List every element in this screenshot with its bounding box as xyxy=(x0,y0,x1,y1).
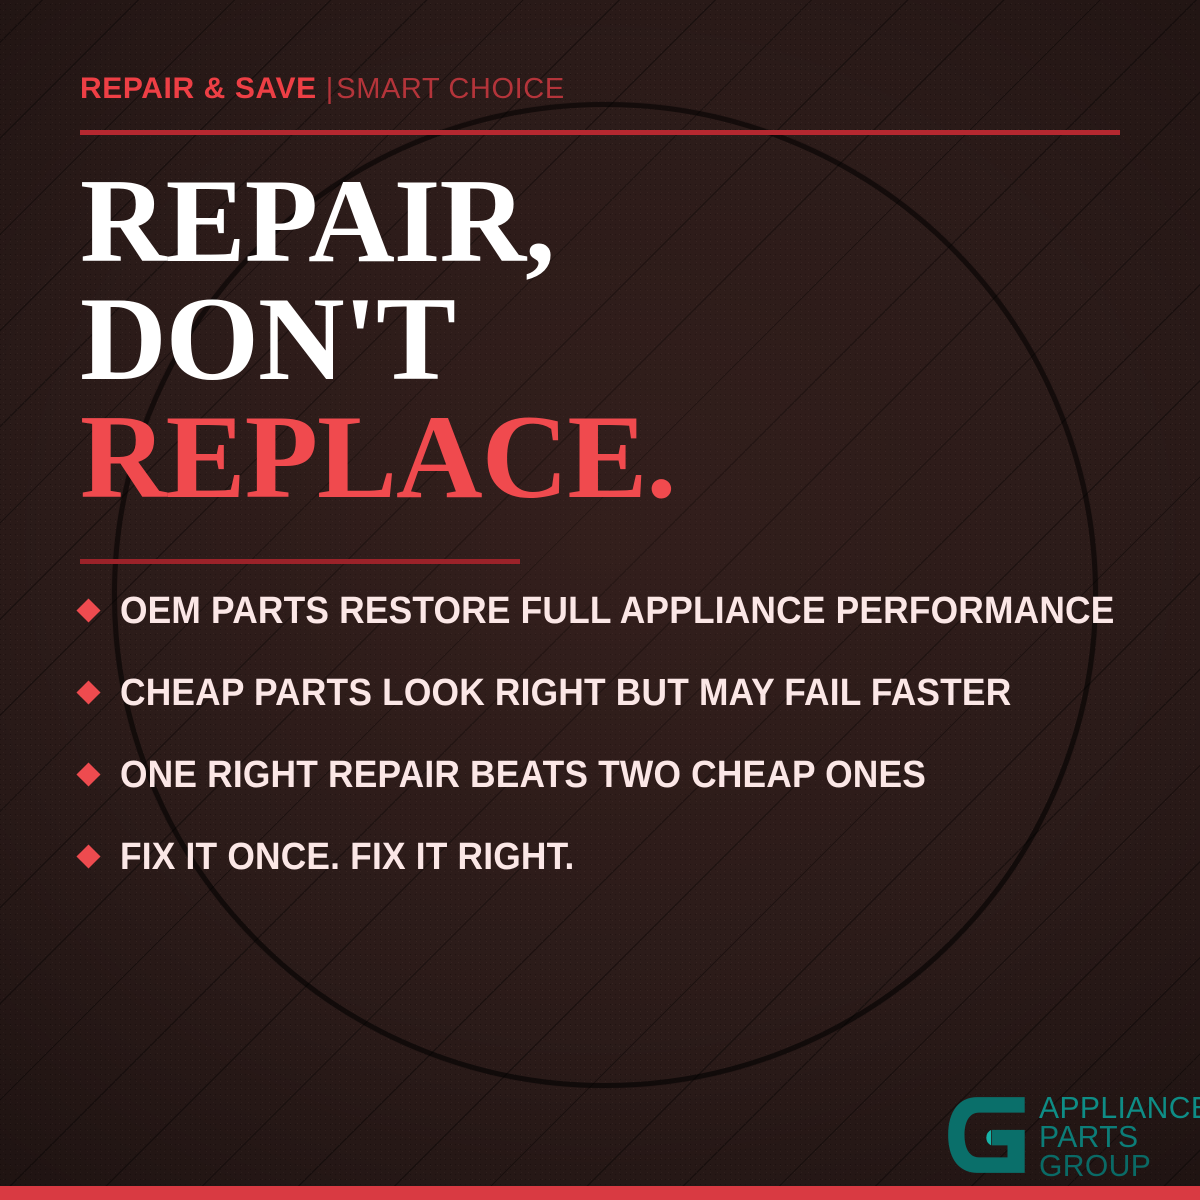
brand-word-appliance: APPLIANCE xyxy=(1039,1093,1200,1122)
diamond-icon xyxy=(76,762,100,786)
list-item: FIX IT ONCE. FIX IT RIGHT. xyxy=(80,835,1160,878)
benefits-list: OEM PARTS RESTORE FULL APPLIANCE PERFORM… xyxy=(80,589,1160,878)
section-divider xyxy=(80,559,520,564)
list-item-label: ONE RIGHT REPAIR BEATS TWO CHEAP ONES xyxy=(120,755,926,795)
headline-line-2: DON'T xyxy=(80,280,1140,398)
diamond-icon xyxy=(76,680,100,704)
headline-line-1: REPAIR, xyxy=(80,162,1140,280)
brand-wordmark: APPLIANCE PARTS GROUP xyxy=(1039,1092,1200,1180)
list-item: ONE RIGHT REPAIR BEATS TWO CHEAP ONES xyxy=(80,753,1160,796)
brand-logo: APPLIANCE PARTS GROUP xyxy=(943,1092,1200,1180)
kicker: REPAIR & SAVE|SMART CHOICE xyxy=(80,74,565,104)
kicker-separator: | xyxy=(326,73,334,105)
list-item-label: OEM PARTS RESTORE FULL APPLIANCE PERFORM… xyxy=(120,591,1115,631)
headline-line-3: REPLACE. xyxy=(80,398,1140,516)
g-monogram-icon xyxy=(943,1092,1029,1178)
brand-word-parts: PARTS xyxy=(1039,1122,1200,1151)
headline: REPAIR, DON'T REPLACE. xyxy=(80,162,1140,516)
diamond-icon xyxy=(76,844,100,868)
brand-word-group: GROUP xyxy=(1039,1151,1200,1180)
list-item-label: CHEAP PARTS LOOK RIGHT BUT MAY FAIL FAST… xyxy=(120,673,1011,713)
kicker-main-text: REPAIR & SAVE xyxy=(80,72,317,105)
list-item-label: FIX IT ONCE. FIX IT RIGHT. xyxy=(120,837,574,877)
list-item: CHEAP PARTS LOOK RIGHT BUT MAY FAIL FAST… xyxy=(80,671,1160,714)
kicker-rule xyxy=(80,130,1120,135)
diamond-icon xyxy=(76,598,100,622)
kicker-sub-text: SMART CHOICE xyxy=(336,73,565,105)
bottom-accent-bar xyxy=(0,1186,1200,1200)
list-item: OEM PARTS RESTORE FULL APPLIANCE PERFORM… xyxy=(80,589,1160,632)
poster-canvas: REPAIR & SAVE|SMART CHOICE REPAIR, DON'T… xyxy=(0,0,1200,1200)
